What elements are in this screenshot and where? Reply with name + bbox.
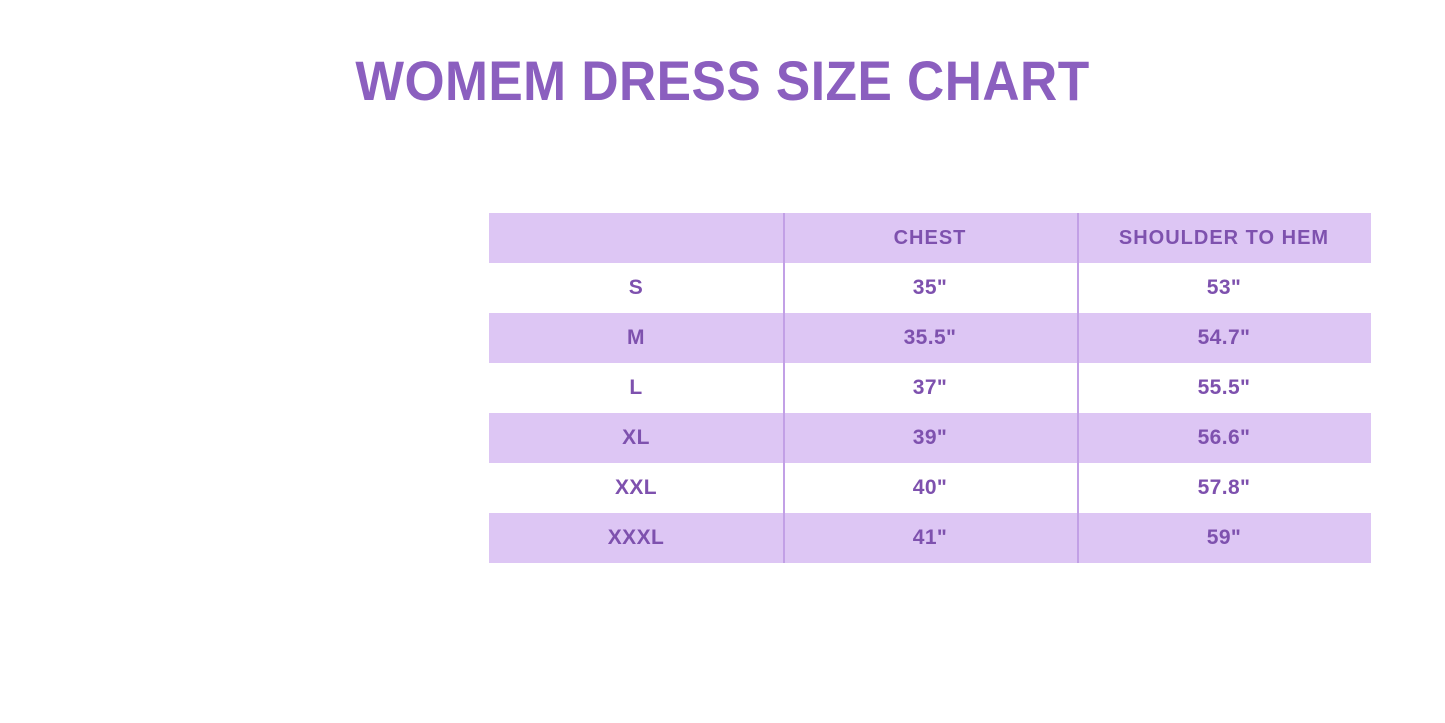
cell-size: XL xyxy=(489,413,783,463)
cell-chest: 35.5" xyxy=(783,313,1077,363)
size-chart-page: WOMEM DRESS SIZE CHART CHEST SHOULDER TO… xyxy=(0,0,1445,723)
cell-chest: 37" xyxy=(783,363,1077,413)
cell-size: XXL xyxy=(489,463,783,513)
cell-chest: 40" xyxy=(783,463,1077,513)
table-row: M 35.5" 54.7" xyxy=(489,313,1371,363)
cell-size: M xyxy=(489,313,783,363)
cell-shoulder-to-hem: 57.8" xyxy=(1077,463,1371,513)
column-header-shoulder-to-hem: SHOULDER TO HEM xyxy=(1077,213,1371,263)
cell-shoulder-to-hem: 59" xyxy=(1077,513,1371,563)
table-row: XL 39" 56.6" xyxy=(489,413,1371,463)
column-header-chest: CHEST xyxy=(783,213,1077,263)
table-header-row: CHEST SHOULDER TO HEM xyxy=(489,213,1371,263)
cell-chest: 35" xyxy=(783,263,1077,313)
cell-shoulder-to-hem: 53" xyxy=(1077,263,1371,313)
table-header: CHEST SHOULDER TO HEM xyxy=(489,213,1371,263)
cell-chest: 39" xyxy=(783,413,1077,463)
cell-size: S xyxy=(489,263,783,313)
size-chart-table: CHEST SHOULDER TO HEM S 35" 53" M 35.5" … xyxy=(489,213,1371,563)
cell-chest: 41" xyxy=(783,513,1077,563)
table-row: S 35" 53" xyxy=(489,263,1371,313)
table-body: S 35" 53" M 35.5" 54.7" L 37" 55.5" XL 3… xyxy=(489,263,1371,563)
table-row: L 37" 55.5" xyxy=(489,363,1371,413)
size-chart-table-container: CHEST SHOULDER TO HEM S 35" 53" M 35.5" … xyxy=(489,213,1371,567)
cell-shoulder-to-hem: 56.6" xyxy=(1077,413,1371,463)
cell-shoulder-to-hem: 55.5" xyxy=(1077,363,1371,413)
table-row: XXXL 41" 59" xyxy=(489,513,1371,563)
column-header-size xyxy=(489,213,783,263)
page-title: WOMEM DRESS SIZE CHART xyxy=(58,52,1387,111)
cell-size: XXXL xyxy=(489,513,783,563)
cell-shoulder-to-hem: 54.7" xyxy=(1077,313,1371,363)
cell-size: L xyxy=(489,363,783,413)
table-row: XXL 40" 57.8" xyxy=(489,463,1371,513)
